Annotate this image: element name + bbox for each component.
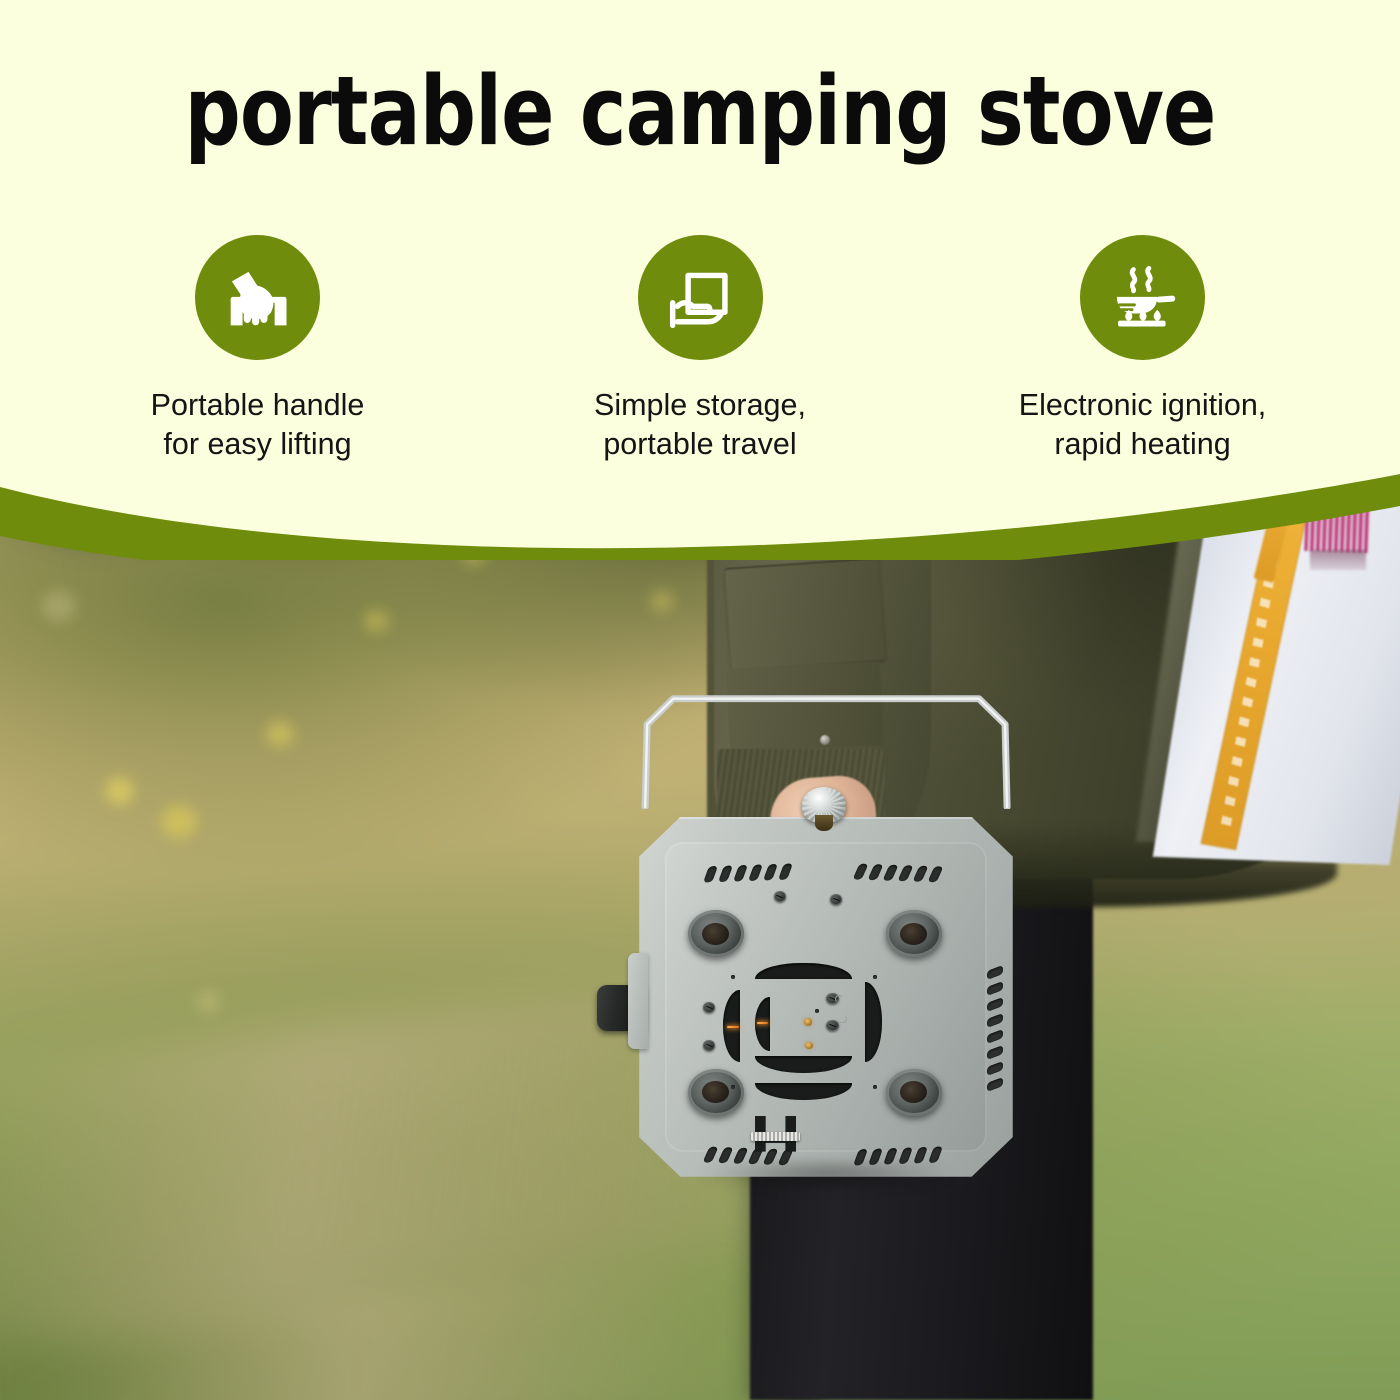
- page-title: portable camping stove: [56, 62, 1344, 163]
- pot-support-foot: [688, 1069, 744, 1116]
- screw: [826, 1020, 839, 1031]
- feature-item-electronic-ignition: Electronic ignition, rapid heating: [945, 235, 1340, 463]
- camping-stove: [623, 777, 1029, 1177]
- hand-holding-box-icon: [662, 260, 738, 336]
- ignition-stem: [815, 815, 834, 831]
- feature-caption-line2: portable travel: [594, 425, 806, 464]
- igniter-bracket-band: [751, 1132, 800, 1141]
- header-panel: portable camping stove: [0, 0, 1400, 560]
- pot-support-foot: [688, 910, 744, 957]
- feature-caption-line1: Portable handle: [151, 386, 365, 425]
- side-vent-slots: [987, 968, 1003, 1089]
- feature-icon-badge: [1080, 235, 1205, 360]
- feature-caption-line1: Electronic ignition,: [1019, 386, 1267, 425]
- pin-hole: [873, 1085, 877, 1089]
- burner-glow: [757, 1022, 767, 1024]
- hand-gripping-handle-icon: [220, 260, 296, 336]
- feature-caption-line2: for easy lifting: [151, 425, 365, 464]
- lifestyle-photo: [0, 470, 1400, 1400]
- pin-hole: [731, 1085, 735, 1089]
- feature-caption: Portable handle for easy lifting: [151, 386, 365, 463]
- burner-glow: [727, 1026, 739, 1028]
- feature-caption: Simple storage, portable travel: [594, 386, 806, 463]
- feature-icon-badge: [195, 235, 320, 360]
- pot-support-foot: [886, 1069, 942, 1116]
- pot-support-foot: [886, 910, 942, 957]
- stove-body: [639, 817, 1013, 1177]
- feature-caption-line1: Simple storage,: [594, 386, 806, 425]
- feature-item-simple-storage: Simple storage, portable travel: [503, 235, 898, 463]
- feature-list: Portable handle for easy lifting: [60, 235, 1340, 463]
- screw: [774, 891, 787, 902]
- product-infographic: portable camping stove: [0, 0, 1400, 1400]
- feature-caption-line2: rapid heating: [1019, 425, 1267, 464]
- sleeve-pocket-flap: [725, 558, 886, 671]
- ignition-electrode: [804, 1018, 813, 1026]
- stove-drop-shadow: [647, 1161, 1004, 1193]
- feature-item-portable-handle: Portable handle for easy lifting: [60, 235, 455, 463]
- pan-on-burner-steam-icon: [1105, 260, 1181, 336]
- feature-icon-badge: [638, 235, 763, 360]
- body-side-tab: [628, 953, 648, 1049]
- feature-caption: Electronic ignition, rapid heating: [1019, 386, 1267, 463]
